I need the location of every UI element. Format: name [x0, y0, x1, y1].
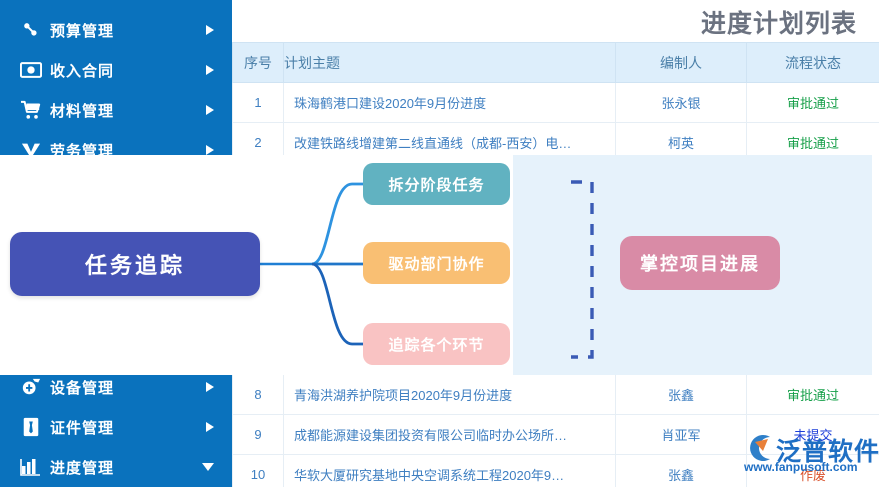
sidebar-item-progress[interactable]: 进度管理	[0, 447, 232, 487]
mindmap-branch-label: 追踪各个环节	[388, 334, 484, 355]
shopping-cart-icon	[14, 100, 48, 120]
cell-index: 1	[233, 83, 284, 123]
cell-status: 作废	[747, 455, 879, 487]
banknote-icon	[14, 61, 48, 79]
page-title: 进度计划列表	[701, 4, 857, 40]
cell-owner: 张永银	[616, 83, 747, 123]
mindmap-branch-label: 驱动部门协作	[388, 253, 484, 274]
table-row[interactable]: 10 华软大厦研究基地中央空调系统工程2020年9… 张鑫 作废	[233, 455, 879, 487]
sidebar-item-label: 证件管理	[50, 417, 114, 438]
column-header-owner[interactable]: 编制人	[616, 43, 747, 83]
cell-index: 8	[233, 375, 284, 415]
mindmap-branch-label: 拆分阶段任务	[388, 174, 484, 195]
cell-owner: 张鑫	[616, 375, 747, 415]
cell-status: 审批通过	[747, 83, 879, 123]
sidebar-item-label: 材料管理	[50, 100, 114, 121]
cell-topic[interactable]: 青海洪湖养护院项目2020年9月份进度	[284, 375, 616, 415]
mindmap-branch-node-1[interactable]: 拆分阶段任务	[363, 163, 510, 205]
cell-status: 审批通过	[747, 375, 879, 415]
chevron-right-icon	[206, 25, 214, 35]
app-screenshot: 预算管理 收入合同 材料管理	[0, 0, 879, 487]
chevron-down-icon	[202, 463, 214, 471]
mindmap-outcome-label: 掌控项目进展	[640, 250, 760, 276]
sidebar-item-label: 收入合同	[50, 60, 114, 81]
sidebar-item-certificate[interactable]: 证件管理	[0, 407, 232, 447]
chevron-right-icon	[206, 422, 214, 432]
sidebar-item-income-contract[interactable]: 收入合同	[0, 50, 232, 90]
cell-owner: 肖亚军	[616, 415, 747, 455]
cell-index: 9	[233, 415, 284, 455]
sidebar-item-budget[interactable]: 预算管理	[0, 10, 232, 50]
chain-link-icon	[14, 20, 48, 40]
table-header-row: 序号 计划主题 编制人 流程状态	[233, 43, 879, 83]
mindmap-overlay: 任务追踪 拆分阶段任务 驱动部门协作 追踪各个环节 掌控项目进展	[0, 155, 879, 375]
cell-topic[interactable]: 珠海鹤港口建设2020年9月份进度	[284, 83, 616, 123]
cell-topic[interactable]: 成都能源建设集团投资有限公司临时办公场所…	[284, 415, 616, 455]
table-row[interactable]: 1 珠海鹤港口建设2020年9月份进度 张永银 审批通过	[233, 83, 879, 123]
table-row[interactable]: 9 成都能源建设集团投资有限公司临时办公场所… 肖亚军 未提交	[233, 415, 879, 455]
certificate-icon	[14, 417, 48, 437]
mindmap-root-label: 任务追踪	[85, 248, 185, 280]
table-row[interactable]: 8 青海洪湖养护院项目2020年9月份进度 张鑫 审批通过	[233, 375, 879, 415]
mindmap-outcome-node[interactable]: 掌控项目进展	[620, 236, 780, 290]
cell-status: 未提交	[747, 415, 879, 455]
sidebar-item-label: 设备管理	[50, 377, 114, 398]
chevron-right-icon	[206, 382, 214, 392]
mindmap-root-node[interactable]: 任务追踪	[10, 232, 260, 296]
column-header-topic[interactable]: 计划主题	[284, 43, 616, 83]
mindmap-branch-node-3[interactable]: 追踪各个环节	[363, 323, 510, 365]
cell-index: 10	[233, 455, 284, 487]
plug-icon	[14, 377, 48, 397]
mindmap-branch-node-2[interactable]: 驱动部门协作	[363, 242, 510, 284]
chevron-right-icon	[206, 65, 214, 75]
sidebar-item-material[interactable]: 材料管理	[0, 90, 232, 130]
table-header: 序号 计划主题 编制人 流程状态	[233, 43, 879, 83]
cell-topic[interactable]: 华软大厦研究基地中央空调系统工程2020年9…	[284, 455, 616, 487]
chevron-right-icon	[206, 145, 214, 155]
column-header-status[interactable]: 流程状态	[747, 43, 879, 83]
chevron-right-icon	[206, 105, 214, 115]
bar-chart-icon	[14, 457, 48, 477]
column-header-index[interactable]: 序号	[233, 43, 284, 83]
sidebar-item-label: 进度管理	[50, 457, 114, 478]
sidebar-item-label: 预算管理	[50, 20, 114, 41]
cell-owner: 张鑫	[616, 455, 747, 487]
